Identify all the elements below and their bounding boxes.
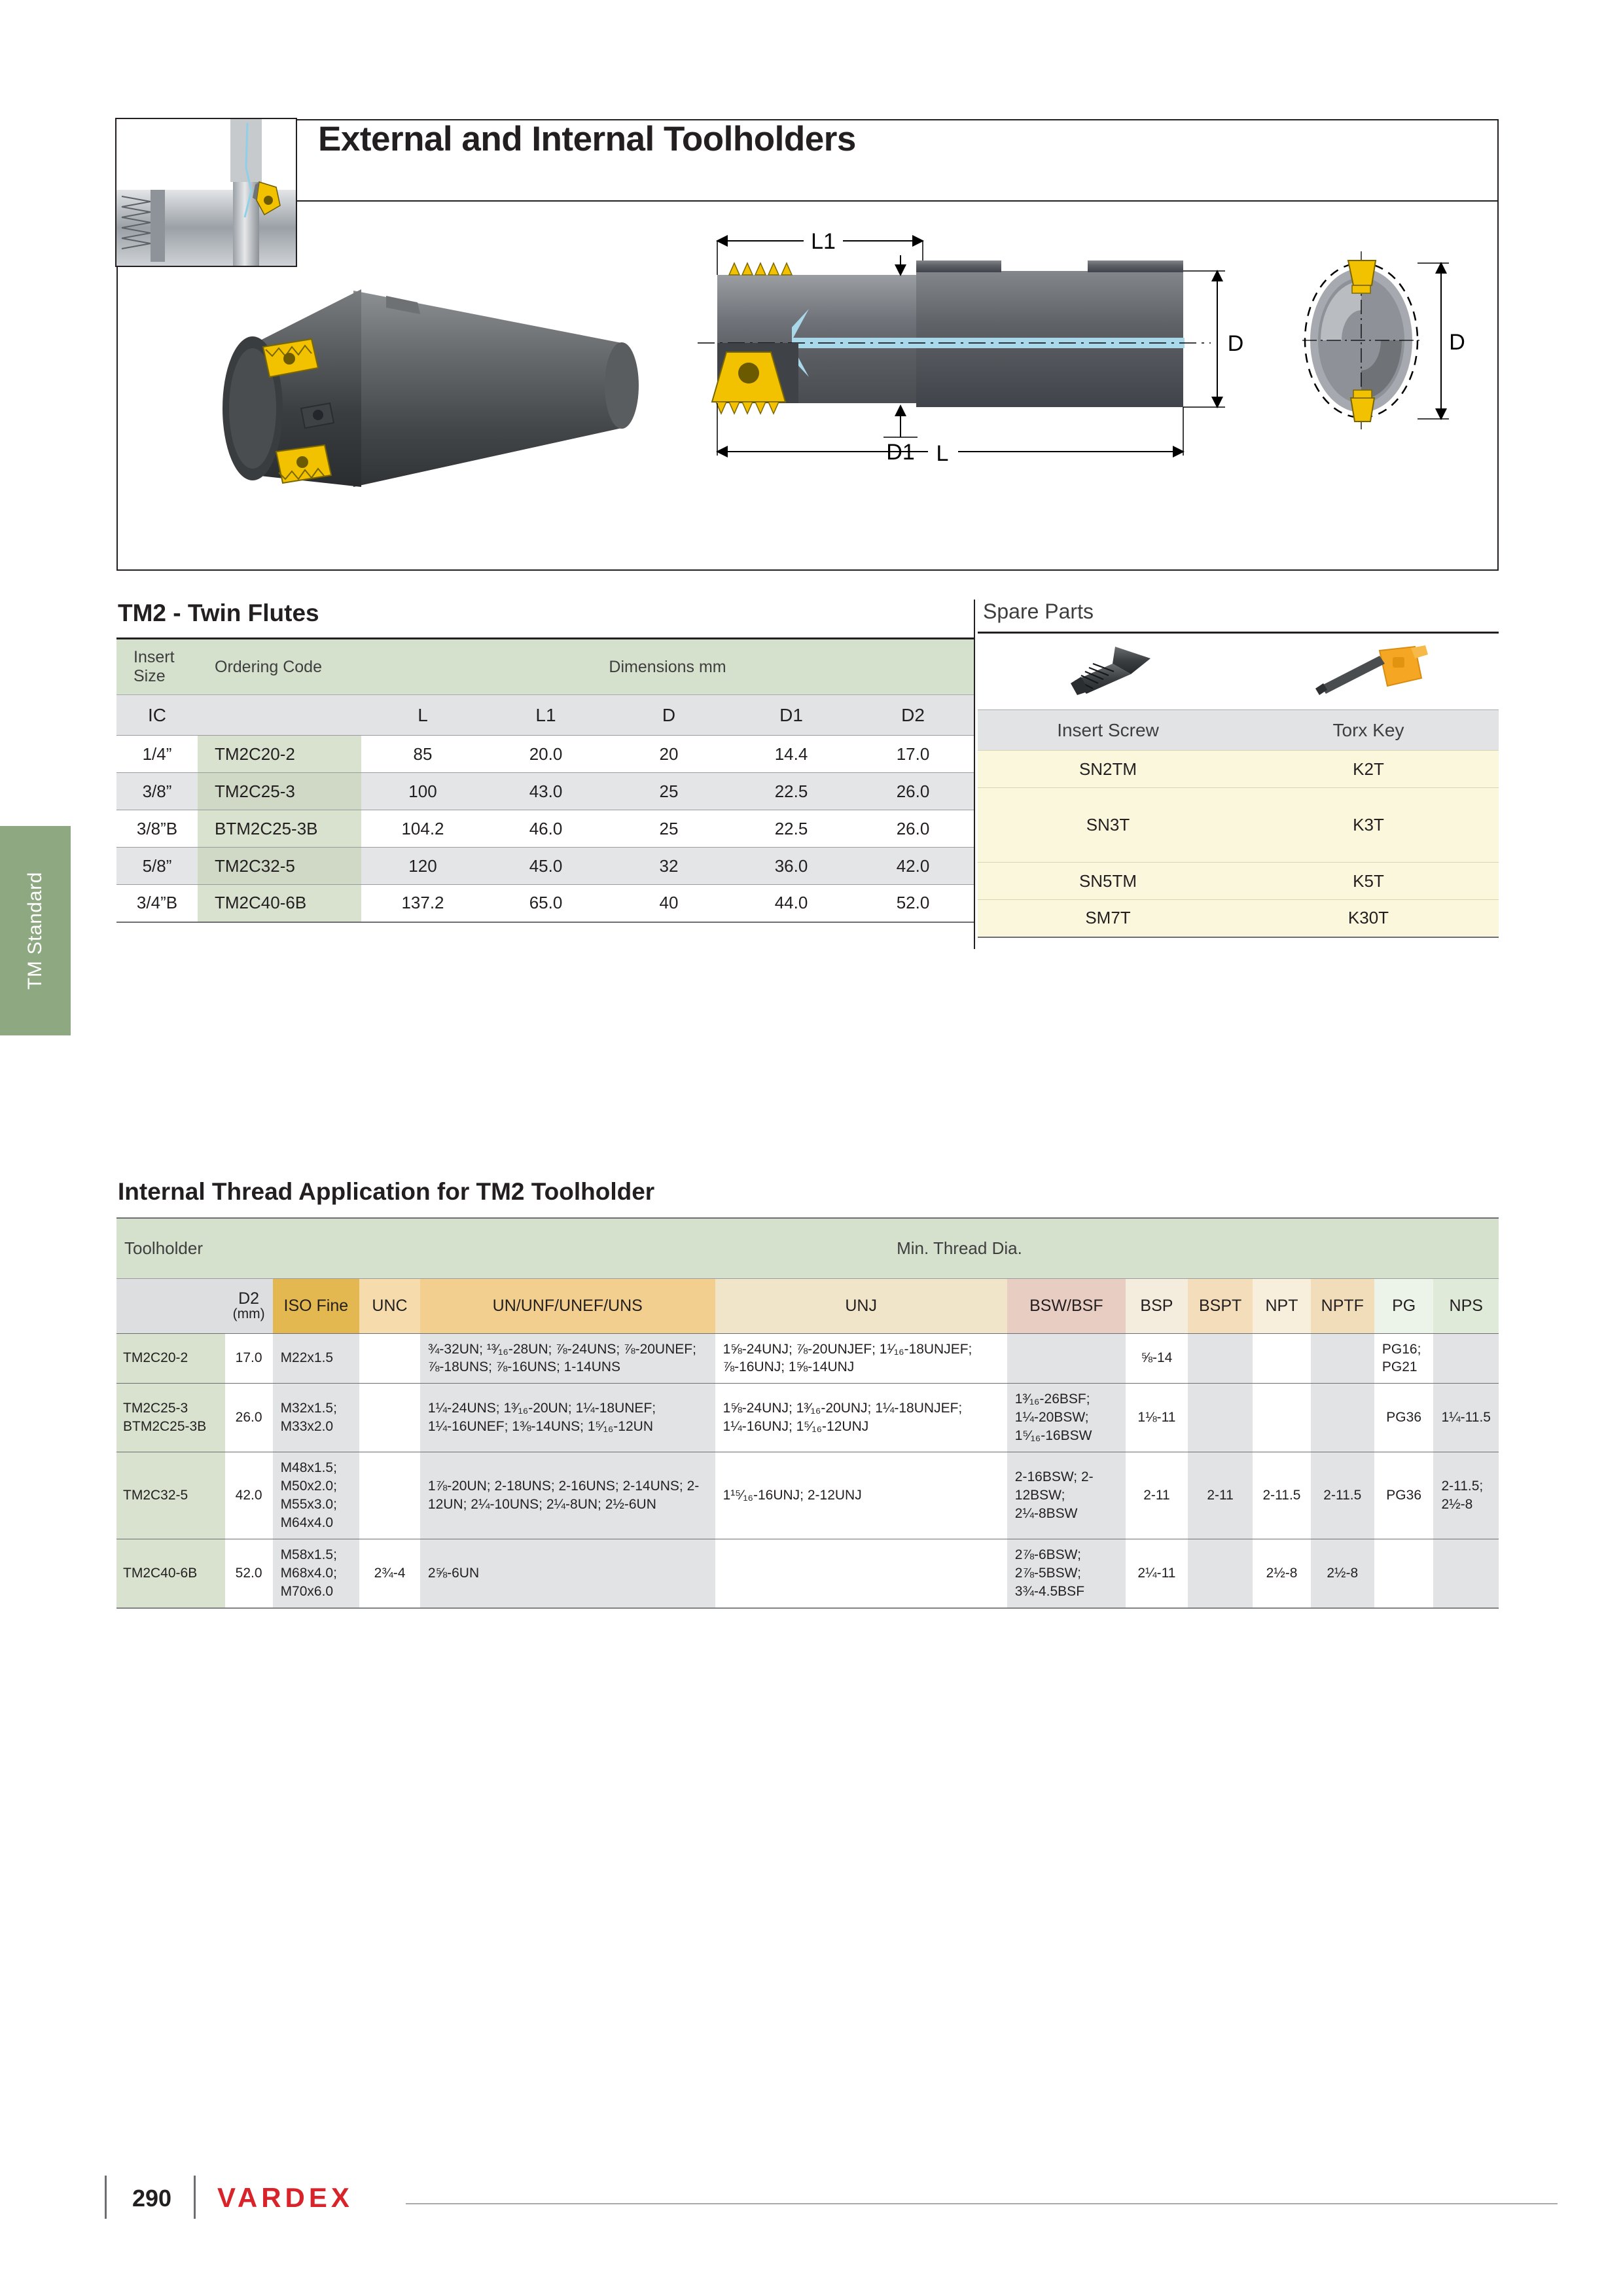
spare-parts-table: Insert Screw Torx Key SN2TM K2T SN3T K3T… [978, 632, 1499, 938]
thread-app-cell-d2: 26.0 [225, 1384, 273, 1452]
sidebar-section-tab: TM Standard [0, 826, 71, 1035]
tm2-cell-d2: 26.0 [852, 773, 974, 810]
thread-app-col-bspt: BSPT [1188, 1278, 1253, 1333]
thread-app-cell-pg: PG16; PG21 [1374, 1333, 1434, 1384]
thread-app-cell-nptf: 2½-8 [1311, 1539, 1374, 1607]
thread-app-cell-bsw: 1³⁄₁₆-26BSF; 1¼-20BSW; 1⁵⁄₁₆-16BSW [1007, 1384, 1126, 1452]
spare-parts-cell-key[interactable]: K5T [1238, 863, 1499, 900]
spare-parts-section: Spare Parts [978, 600, 1499, 938]
thread-app-col-d2: D2 (mm) [225, 1278, 273, 1333]
tm2-cell-d1: 22.5 [730, 810, 852, 848]
footer-horizontal-rule [406, 2203, 1558, 2204]
thread-app-cell-bspt [1188, 1333, 1253, 1384]
thread-app-col-bsp: BSP [1126, 1278, 1188, 1333]
tm2-cell-l1: 20.0 [484, 736, 607, 773]
tm2-col-ic: IC [116, 695, 198, 736]
thread-app-col-pg: PG [1374, 1278, 1434, 1333]
tm2-cell-l: 85 [361, 736, 484, 773]
table-row: SN2TM K2T [978, 751, 1499, 788]
thread-app-cell-iso-fine: M22x1.5 [273, 1333, 360, 1384]
footer-rule-mid [194, 2176, 196, 2219]
page-footer: 290 VARDEX [105, 2172, 1544, 2231]
thread-app-col-d2-unit: (mm) [225, 1307, 273, 1321]
tm2-cell-d: 25 [607, 810, 730, 848]
thread-app-column-header-row: D2 (mm) ISO Fine UNC UN/UNF/UNEF/UNS UNJ… [116, 1278, 1499, 1333]
thread-app-col-bsw: BSW/BSF [1007, 1278, 1126, 1333]
spare-parts-cell-screw[interactable]: SM7T [978, 900, 1238, 937]
tm2-cell-l1: 45.0 [484, 848, 607, 885]
thread-app-cell-bspt [1188, 1539, 1253, 1607]
brand-logo: VARDEX [217, 2182, 353, 2214]
tm2-cell-d: 20 [607, 736, 730, 773]
table-row: TM2C40-6B 52.0 M58x1.5; M68x4.0; M70x6.0… [116, 1539, 1499, 1607]
thread-app-cell-d2: 52.0 [225, 1539, 273, 1607]
thread-app-cell-unc [359, 1333, 420, 1384]
spare-parts-image-row [978, 633, 1499, 710]
thread-app-cell-pg: PG36 [1374, 1384, 1434, 1452]
tm2-cell-d2: 52.0 [852, 885, 974, 922]
thread-application-table: Toolholder Min. Thread Dia. D2 (mm) ISO … [116, 1217, 1499, 1609]
tm2-cell-code[interactable]: TM2C40-6B [198, 885, 361, 922]
thread-app-cell-iso-fine: M48x1.5; M50x2.0; M55x3.0; M64x4.0 [273, 1452, 360, 1539]
tm2-cell-ic: 3/8” [116, 773, 198, 810]
thread-app-cell-nps: 2-11.5; 2½-8 [1433, 1452, 1499, 1539]
tm2-cell-ic: 3/4”B [116, 885, 198, 922]
sidebar-tab-label: TM Standard [24, 872, 46, 990]
thread-app-col-unj: UNJ [715, 1278, 1007, 1333]
tm2-cell-d1: 14.4 [730, 736, 852, 773]
spare-parts-divider [974, 600, 975, 949]
table-row: TM2C20-2 17.0 M22x1.5 ¾-32UN; ¹³⁄₁₆-28UN… [116, 1333, 1499, 1384]
spare-parts-cell-screw[interactable]: SN2TM [978, 751, 1238, 788]
tm2-cell-d1: 44.0 [730, 885, 852, 922]
thread-app-cell-unc: 2¾-4 [359, 1539, 420, 1607]
thread-app-col-npt: NPT [1253, 1278, 1310, 1333]
tm2-cell-code[interactable]: TM2C25-3 [198, 773, 361, 810]
thread-app-col-un: UN/UNF/UNEF/UNS [420, 1278, 715, 1333]
table-row: SN5TM K5T [978, 863, 1499, 900]
tm2-cell-d1: 36.0 [730, 848, 852, 885]
insert-screw-icon [978, 633, 1238, 710]
thread-app-cell-nptf [1311, 1384, 1374, 1452]
hero-panel: External and Internal Toolholders [116, 119, 1499, 571]
thread-app-cell-nps [1433, 1539, 1499, 1607]
thread-app-cell-d2: 17.0 [225, 1333, 273, 1384]
thread-app-cell-d2: 42.0 [225, 1452, 273, 1539]
svg-text:D2: D2 [1449, 330, 1466, 355]
tm2-col-l1: L1 [484, 695, 607, 736]
tm2-cell-l1: 43.0 [484, 773, 607, 810]
thread-app-cell-unj: 1⅝-24UNJ; 1³⁄₁₆-20UNJ; 1¼-18UNJEF; 1¼-16… [715, 1384, 1007, 1452]
tm2-cell-code[interactable]: TM2C20-2 [198, 736, 361, 773]
thread-app-cell-bsp: 2¼-11 [1126, 1539, 1188, 1607]
tm2-cell-l1: 65.0 [484, 885, 607, 922]
spare-parts-cell-key[interactable]: K30T [1238, 900, 1499, 937]
svg-text:D: D [1228, 331, 1244, 356]
thread-app-header-min-thread-dia: Min. Thread Dia. [420, 1218, 1499, 1278]
thread-app-col-d2-label: D2 [225, 1290, 273, 1307]
thread-app-cell-bspt [1188, 1384, 1253, 1452]
thread-app-cell-bsw [1007, 1333, 1126, 1384]
thread-application-title: Internal Thread Application for TM2 Tool… [118, 1178, 1499, 1206]
thread-app-cell-npt: 2½-8 [1253, 1539, 1310, 1607]
tm2-section: TM2 - Twin Flutes Insert Size Ordering C… [116, 600, 974, 923]
tm2-table: Insert Size Ordering Code Dimensions mm … [116, 637, 974, 923]
tm2-cell-ic: 5/8” [116, 848, 198, 885]
tm2-cell-ic: 1/4” [116, 736, 198, 773]
thread-app-col-nptf: NPTF [1311, 1278, 1374, 1333]
thread-app-cell-iso-fine: M58x1.5; M68x4.0; M70x6.0 [273, 1539, 360, 1607]
tm2-cell-d1: 22.5 [730, 773, 852, 810]
thread-app-cell-unc [359, 1452, 420, 1539]
page-number: 290 [132, 2185, 171, 2212]
thread-app-cell-iso-fine: M32x1.5; M33x2.0 [273, 1384, 360, 1452]
thread-app-cell-unj [715, 1539, 1007, 1607]
tm2-column-header-row: IC L L1 D D1 D2 [116, 695, 974, 736]
thread-app-cell-un: ¾-32UN; ¹³⁄₁₆-28UN; ⅞-24UNS; ⅞-20UNEF; ⅞… [420, 1333, 715, 1384]
thread-app-cell-name[interactable]: TM2C32-5 [116, 1452, 225, 1539]
thread-app-cell-unj: 1¹⁵⁄₁₆-16UNJ; 2-12UNJ [715, 1452, 1007, 1539]
thread-app-cell-bspt: 2-11 [1188, 1452, 1253, 1539]
thread-app-cell-bsw: 2-16BSW; 2-12BSW; 2¼-8BSW [1007, 1452, 1126, 1539]
spare-parts-cell-key[interactable]: K2T [1238, 751, 1499, 788]
table-row: TM2C25-3BTM2C25-3B 26.0 M32x1.5; M33x2.0… [116, 1384, 1499, 1452]
tm2-cell-l: 137.2 [361, 885, 484, 922]
tm2-header-insert-size: Insert Size [116, 639, 198, 695]
tm2-cell-d: 25 [607, 773, 730, 810]
thread-app-cell-name[interactable]: TM2C20-2 [116, 1333, 225, 1384]
thread-app-cell-npt: 2-11.5 [1253, 1452, 1310, 1539]
thread-app-cell-unj: 1⅝-24UNJ; ⅞-20UNJEF; 1¹⁄₁₆-18UNJEF; ⅞-16… [715, 1333, 1007, 1384]
toolholder-3d-view [190, 212, 687, 556]
tm2-col-l: L [361, 695, 484, 736]
thread-app-cell-nps: 1¼-11.5 [1433, 1384, 1499, 1452]
table-row: SM7T K30T [978, 900, 1499, 937]
thread-application-section: Internal Thread Application for TM2 Tool… [116, 1178, 1499, 1609]
thread-app-col-nps: NPS [1433, 1278, 1499, 1333]
table-row: 3/8”B BTM2C25-3B 104.2 46.0 25 22.5 26.0 [116, 810, 974, 848]
spare-parts-col-insert-screw: Insert Screw [978, 710, 1238, 751]
table-row: TM2C32-5 42.0 M48x1.5; M50x2.0; M55x3.0;… [116, 1452, 1499, 1539]
thread-app-header-toolholder: Toolholder [116, 1218, 420, 1278]
thread-app-cell-un: 1¼-24UNS; 1³⁄₁₆-20UN; 1¼-18UNEF; 1¼-16UN… [420, 1384, 715, 1452]
tm2-col-blank [198, 695, 361, 736]
thread-app-cell-bsp: ⅝-14 [1126, 1333, 1188, 1384]
thread-app-col-unc: UNC [359, 1278, 420, 1333]
tm2-cell-ic: 3/8”B [116, 810, 198, 848]
table-row: 3/8” TM2C25-3 100 43.0 25 22.5 26.0 [116, 773, 974, 810]
spare-parts-col-torx-key: Torx Key [1238, 710, 1499, 751]
table-row: 5/8” TM2C32-5 120 45.0 32 36.0 42.0 [116, 848, 974, 885]
tm2-header-dimensions: Dimensions mm [361, 639, 974, 695]
hero-divider [118, 200, 1497, 202]
svg-text:L: L [936, 441, 949, 466]
thread-app-cell-bsp: 2-11 [1126, 1452, 1188, 1539]
thread-app-cell-nptf: 2-11.5 [1311, 1452, 1374, 1539]
tm2-cell-d2: 42.0 [852, 848, 974, 885]
tm2-cell-l1: 46.0 [484, 810, 607, 848]
thread-app-cell-bsp: 1⅛-11 [1126, 1384, 1188, 1452]
tm2-header-ordering-code: Ordering Code [198, 639, 361, 695]
thread-app-cell-pg: PG36 [1374, 1452, 1434, 1539]
tm2-col-d: D [607, 695, 730, 736]
spare-parts-cell-screw[interactable]: SN5TM [978, 863, 1238, 900]
torx-key-icon [1238, 633, 1499, 710]
tm2-section-title: TM2 - Twin Flutes [118, 600, 974, 627]
tm2-col-d1: D1 [730, 695, 852, 736]
thread-app-cell-nps [1433, 1333, 1499, 1384]
footer-rule-left [105, 2176, 107, 2219]
tm2-cell-d: 32 [607, 848, 730, 885]
spare-parts-cell-screw[interactable]: SN3T [978, 788, 1238, 863]
spare-parts-title: Spare Parts [983, 600, 1499, 624]
thread-app-cell-npt [1253, 1384, 1310, 1452]
tm2-cell-l: 100 [361, 773, 484, 810]
tm2-col-d2: D2 [852, 695, 974, 736]
spare-parts-cell-key[interactable]: K3T [1238, 788, 1499, 863]
tm2-cell-d2: 17.0 [852, 736, 974, 773]
thread-app-cell-name[interactable]: TM2C40-6B [116, 1539, 225, 1607]
tm2-cell-code[interactable]: BTM2C25-3B [198, 810, 361, 848]
svg-text:L1: L1 [811, 229, 836, 254]
spare-parts-column-header-row: Insert Screw Torx Key [978, 710, 1499, 751]
tm2-cell-l: 104.2 [361, 810, 484, 848]
tm2-cell-d: 40 [607, 885, 730, 922]
thread-app-cell-unc [359, 1384, 420, 1452]
thread-app-cell-name[interactable]: TM2C25-3BTM2C25-3B [116, 1384, 225, 1452]
toolholder-dimension-drawing: L1 [694, 212, 1466, 477]
page-title: External and Internal Toolholders [318, 119, 856, 159]
tm2-cell-code[interactable]: TM2C32-5 [198, 848, 361, 885]
table-row: 3/4”B TM2C40-6B 137.2 65.0 40 44.0 52.0 [116, 885, 974, 922]
thread-app-cell-pg [1374, 1539, 1434, 1607]
tm2-group-header-row: Insert Size Ordering Code Dimensions mm [116, 639, 974, 695]
table-row: 1/4” TM2C20-2 85 20.0 20 14.4 17.0 [116, 736, 974, 773]
tm2-cell-l: 120 [361, 848, 484, 885]
thread-app-col-name [116, 1278, 225, 1333]
thread-app-cell-bsw: 2⅞-6BSW; 2⅞-5BSW; 3¾-4.5BSF [1007, 1539, 1126, 1607]
thread-app-col-iso-fine: ISO Fine [273, 1278, 360, 1333]
thread-app-cell-npt [1253, 1333, 1310, 1384]
thread-app-cell-un: 1⅞-20UN; 2-18UNS; 2-16UNS; 2-14UNS; 2-12… [420, 1452, 715, 1539]
thread-app-group-header-row: Toolholder Min. Thread Dia. [116, 1218, 1499, 1278]
thread-app-cell-un: 2⅝-6UN [420, 1539, 715, 1607]
thread-app-cell-nptf [1311, 1333, 1374, 1384]
tm2-cell-d2: 26.0 [852, 810, 974, 848]
